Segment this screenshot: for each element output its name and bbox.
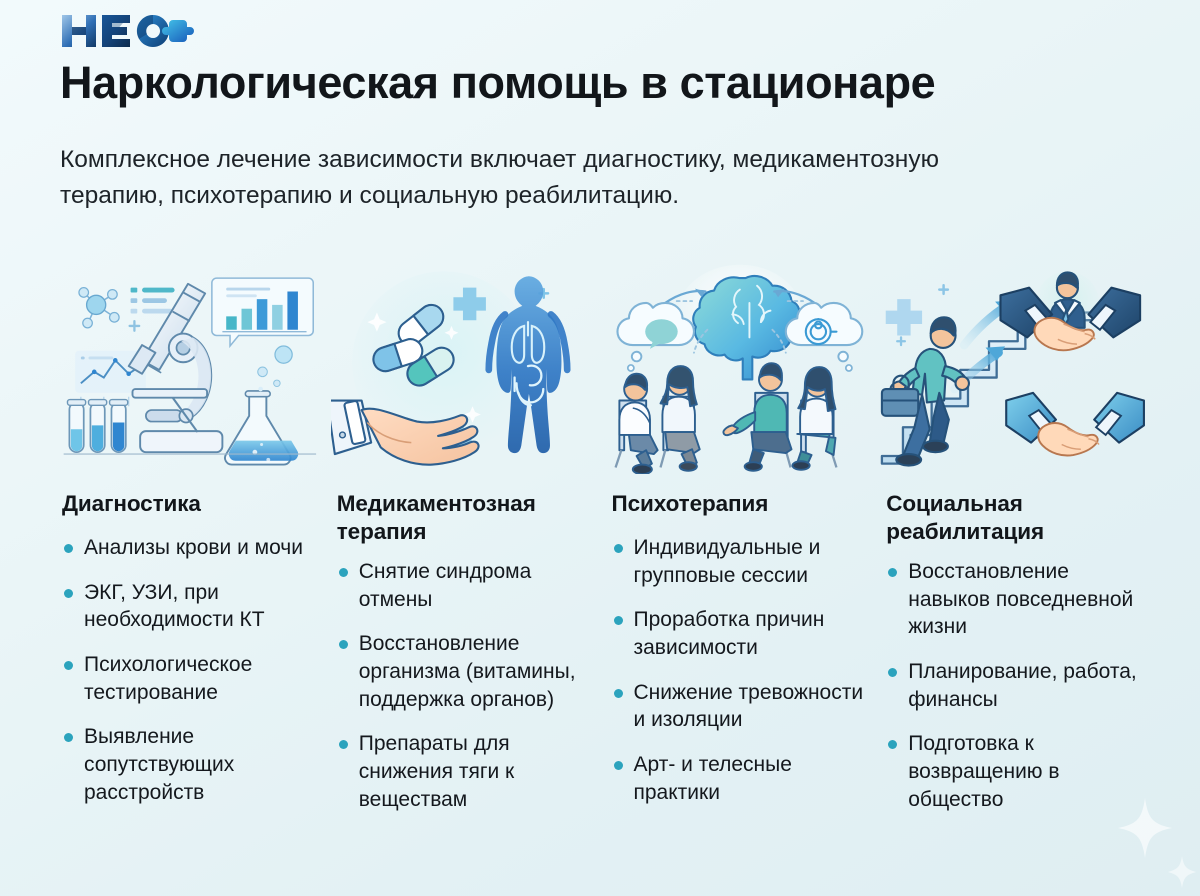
neo-plus-logo (60, 10, 200, 52)
column-title-diagnostics: Диагностика (56, 490, 324, 518)
microscope-lab-illustration (56, 262, 324, 474)
social-rehab-illustration (880, 262, 1148, 474)
column-title-psychotherapy: Психотерапия (606, 490, 874, 518)
stairs-handshake-icon (880, 262, 1148, 474)
list-item: Проработка причин зависимости (612, 606, 874, 661)
column-title-medication: Медикаментозная терапия (331, 490, 599, 546)
feature-columns: Диагностика Анализы крови и мочи ЭКГ, УЗ… (56, 262, 1148, 831)
list-item: Восстановление организма (витамины, подд… (337, 630, 599, 713)
psychotherapy-illustration (606, 262, 874, 474)
list-item: Арт- и телесные практики (612, 751, 874, 806)
medication-illustration (331, 262, 599, 474)
bullet-list-social-rehab: Восстановление навыков повседневной жизн… (880, 558, 1148, 814)
list-item: Препараты для снижения тяги к веществам (337, 730, 599, 813)
column-medication: Медикаментозная терапия Снятие синдрома … (331, 262, 599, 831)
list-item: Психологическое тестирование (62, 651, 324, 706)
group-therapy-brain-icon (606, 262, 874, 474)
list-item: Снижение тревожности и изоляции (612, 679, 874, 734)
hand-pills-body-icon (331, 262, 599, 474)
list-item: Планирование, работа, финансы (886, 658, 1148, 713)
column-diagnostics: Диагностика Анализы крови и мочи ЭКГ, УЗ… (56, 262, 324, 831)
column-psychotherapy: Психотерапия Индивидуальные и групповые … (606, 262, 874, 831)
sparkle-decoration-small (1168, 856, 1196, 888)
bullet-list-medication: Снятие синдрома отмены Восстановление ор… (331, 558, 599, 814)
column-title-social-rehab: Социальная реабилитация (880, 490, 1148, 546)
neo-plus-logo-icon (60, 11, 200, 51)
infographic-page: Наркологическая помощь в стационаре Комп… (0, 0, 1200, 896)
list-item: Восстановление навыков повседневной жизн… (886, 558, 1148, 641)
page-title: Наркологическая помощь в стационаре (60, 58, 1150, 108)
list-item: Подготовка к возвращению в общество (886, 730, 1148, 813)
page-subtitle: Комплексное лечение зависимости включает… (60, 142, 960, 214)
microscope-lab-icon (56, 262, 324, 474)
list-item: Снятие синдрома отмены (337, 558, 599, 613)
list-item: Индивидуальные и групповые сессии (612, 534, 874, 589)
list-item: Выявление сопутствующих расстройств (62, 723, 324, 806)
bullet-list-diagnostics: Анализы крови и мочи ЭКГ, УЗИ, при необх… (56, 534, 324, 807)
list-item: Анализы крови и мочи (62, 534, 324, 562)
list-item: ЭКГ, УЗИ, при необходимости КТ (62, 579, 324, 634)
bullet-list-psychotherapy: Индивидуальные и групповые сессии Прораб… (606, 534, 874, 807)
column-social-rehab: Социальная реабилитация Восстановление н… (880, 262, 1148, 831)
